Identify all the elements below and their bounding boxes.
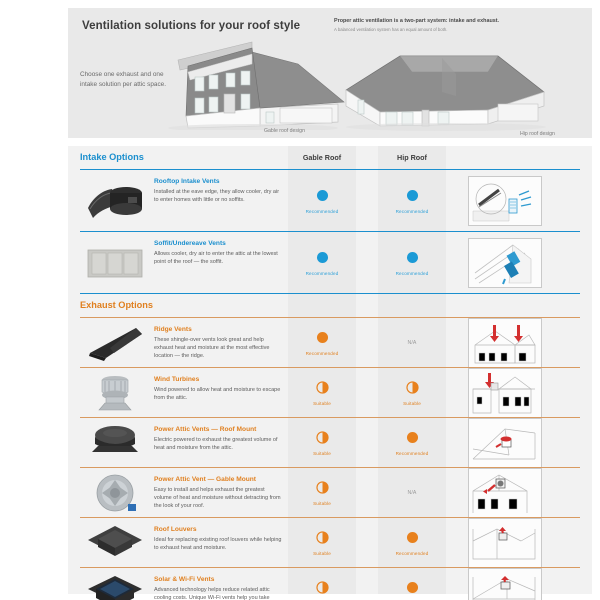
soffit-vent-panel-thumb [84,240,146,286]
rating-marker-half-icon [406,381,419,394]
table-row[interactable]: Power Attic Vent — Gable MountEasy to in… [68,468,592,518]
rating-cell-hip: Recommended [378,232,446,294]
rating-marker-half-icon [316,431,329,444]
house-turbine-illustration [468,368,542,418]
table-row[interactable]: Roof LouversIdeal for replacing existing… [68,518,592,568]
rating-marker-half-icon [316,481,329,494]
gable-mount-power-vent-illustration [468,468,542,518]
rating-marker-half-icon [316,531,329,544]
power-attic-vent-gable-mount-thumb [84,470,146,516]
status-badge: Recommended [306,351,339,356]
rating-marker-half-icon [316,381,329,394]
product-title: Solar & Wi-Fi Vents [154,576,282,584]
status-badge: N/A [407,340,416,346]
table-row[interactable]: Solar & Wi-Fi VentsAdvanced technology h… [68,568,592,600]
rating-marker-half-icon [316,581,329,594]
table-row[interactable]: Ridge VentsThese shingle-over vents look… [68,318,592,368]
hip-roof-power-vent-illustration [468,418,542,468]
product-text: Solar & Wi-Fi VentsAdvanced technology h… [154,576,282,600]
rating-cell-hip: Recommended [378,568,446,600]
product-description: Wind powered to allow heat and moisture … [154,386,282,402]
gable-house-ridge-illustration [468,318,542,368]
table-row[interactable]: Power Attic Vents — Roof MountElectric p… [68,418,592,468]
table-row[interactable]: Rooftop Intake VentsInstalled at the eav… [68,170,592,232]
table-row[interactable]: Wind TurbinesWind powered to allow heat … [68,368,592,418]
product-title: Wind Turbines [154,376,282,384]
product-title: Power Attic Vent — Gable Mount [154,476,282,484]
table-row[interactable]: Soffit/Undereave VentsAllows cooler, dry… [68,232,592,294]
wind-turbine-thumb [84,370,146,416]
product-text: Roof LouversIdeal for replacing existing… [154,526,282,552]
status-badge: Recommended [396,451,429,456]
rating-cell-gable: Suitable [288,568,356,600]
status-badge: N/A [407,490,416,496]
comparison-table: Intake OptionsGable RoofHip RoofRooftop … [68,146,592,594]
caption-gable-roof: Gable roof design [264,128,305,134]
product-text: Ridge VentsThese shingle-over vents look… [154,326,282,360]
hero-right-subtitle: A balanced ventilation system has an equ… [334,27,564,33]
product-text: Rooftop Intake VentsInstalled at the eav… [154,178,282,204]
rating-cell-gable: Recommended [288,232,356,294]
product-title: Soffit/Undereave Vents [154,240,282,248]
rating-cell-hip: Recommended [378,518,446,568]
product-text: Power Attic Vent — Gable MountEasy to in… [154,476,282,510]
status-badge: Suitable [313,551,331,556]
rooftop-intake-vent-thumb [84,178,146,224]
status-badge: Suitable [403,401,421,406]
rating-cell-hip: Recommended [378,170,446,232]
rating-cell-hip: N/A [378,468,446,518]
product-description: Electric powered to exhaust the greatest… [154,436,282,452]
rating-marker-full-icon [406,431,419,444]
solar-vent-placement-illustration [468,568,542,600]
section-header-exhaust: Exhaust Options [68,294,592,318]
hip-house-illustration [338,34,553,134]
product-description: Advanced technology helps reduce related… [154,586,282,600]
column-header-gable: Gable Roof [288,153,356,162]
rating-cell-gable: Suitable [288,368,356,418]
section-header-intake: Intake OptionsGable RoofHip Roof [68,146,592,170]
soffit-airflow-illustration [468,238,542,288]
column-header-hip: Hip Roof [378,153,446,162]
gable-house-illustration [148,30,348,130]
product-title: Ridge Vents [154,326,282,334]
rating-cell-gable: Suitable [288,518,356,568]
status-badge: Recommended [306,271,339,276]
product-description: These shingle-over vents look great and … [154,336,282,360]
product-text: Soffit/Undereave VentsAllows cooler, dry… [154,240,282,266]
rating-marker-full-icon [406,251,419,264]
ventilation-solutions-page: Ventilation solutions for your roof styl… [0,0,600,600]
product-title: Power Attic Vents — Roof Mount [154,426,282,434]
product-text: Wind TurbinesWind powered to allow heat … [154,376,282,402]
rating-cell-gable: Recommended [288,318,356,368]
rating-cell-hip: Suitable [378,368,446,418]
status-badge: Recommended [396,209,429,214]
rating-cell-hip: N/A [378,318,446,368]
product-title: Roof Louvers [154,526,282,534]
product-description: Installed at the eave edge, they allow c… [154,188,282,204]
hero-right-title: Proper attic ventilation is a two-part s… [334,18,579,26]
roof-louver-thumb [84,520,146,566]
rating-marker-full-icon [316,331,329,344]
section-title-intake: Intake Options [80,152,144,162]
rating-cell-gable: Suitable [288,468,356,518]
solar-wifi-vent-thumb [84,570,146,600]
caption-hip-roof: Hip roof design [520,131,555,137]
product-description: Ideal for replacing existing roof louver… [154,536,282,552]
hero-banner: Ventilation solutions for your roof styl… [68,8,592,138]
status-badge: Recommended [396,271,429,276]
status-badge: Suitable [313,501,331,506]
eave-edge-airflow-illustration [468,176,542,226]
rating-marker-full-icon [406,189,419,202]
rating-cell-gable: Suitable [288,418,356,468]
product-description: Allows cooler, dry air to enter the atti… [154,250,282,266]
product-title: Rooftop Intake Vents [154,178,282,186]
status-badge: Recommended [306,209,339,214]
rating-marker-full-icon [406,581,419,594]
ridge-vent-thumb [84,320,146,366]
status-badge: Suitable [313,451,331,456]
rating-cell-hip: Recommended [378,418,446,468]
rating-cell-gable: Recommended [288,170,356,232]
rating-marker-full-icon [406,531,419,544]
status-badge: Recommended [396,551,429,556]
roof-louver-placement-illustration [468,518,542,568]
product-description: Easy to install and helps exhaust the gr… [154,486,282,510]
rating-marker-full-icon [316,189,329,202]
power-attic-vent-roof-mount-thumb [84,420,146,466]
rating-marker-full-icon [316,251,329,264]
product-text: Power Attic Vents — Roof MountElectric p… [154,426,282,452]
section-title-exhaust: Exhaust Options [80,300,153,310]
status-badge: Suitable [313,401,331,406]
